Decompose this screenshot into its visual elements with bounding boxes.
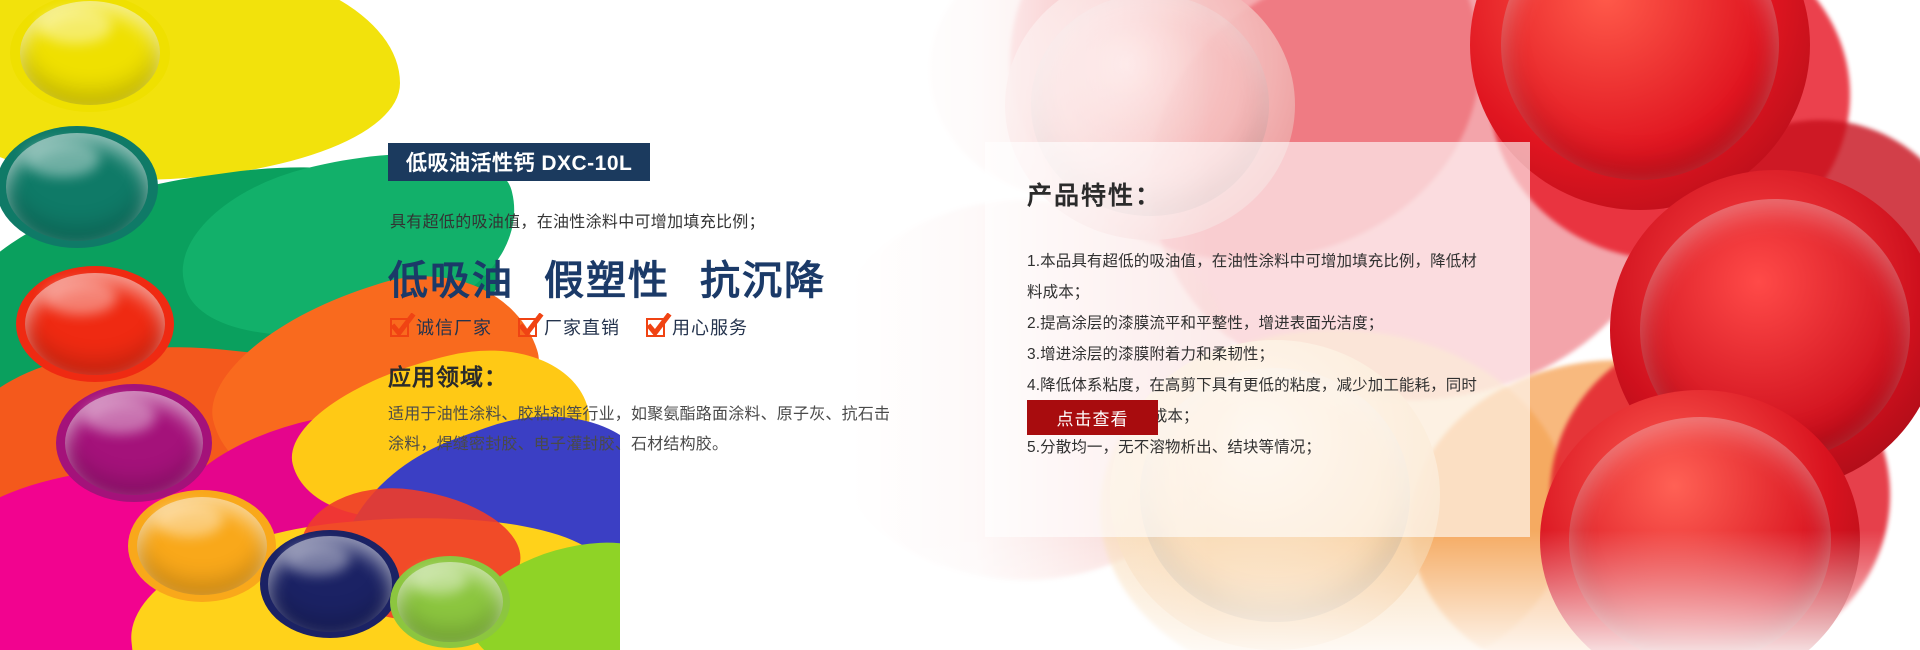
panel-feature-item: 2.提高涂层的漆膜流平和平整性，增进表面光洁度；: [1027, 308, 1492, 339]
product-features-panel: 产品特性： 1.本品具有超低的吸油值，在油性涂料中可增加填充比例，降低材料成本；…: [985, 142, 1530, 537]
artwork-fade-bottom: [850, 530, 1920, 650]
trust-badge-1: 诚信厂家: [390, 314, 492, 340]
trust-badge-label-2: 厂家直销: [544, 314, 620, 340]
product-banner: 低吸油活性钙 DXC-10L 具有超低的吸油值，在油性涂料中可增加填充比例； 低…: [0, 0, 1920, 650]
checkbox-checked-icon: [518, 318, 537, 337]
headline-word-3: 抗沉降: [700, 257, 826, 304]
product-subtitle: 具有超低的吸油值，在油性涂料中可增加填充比例；: [390, 208, 765, 232]
trust-badge-2: 厂家直销: [518, 314, 620, 340]
paint-pot-purple: [56, 384, 212, 502]
panel-feature-item: 1.本品具有超低的吸油值，在油性涂料中可增加填充比例，降低材料成本；: [1027, 246, 1492, 308]
panel-feature-item: 3.增进涂层的漆膜附着力和柔韧性；: [1027, 339, 1492, 370]
trust-badges: 诚信厂家 厂家直销 用心服务: [390, 314, 748, 340]
headline-word-2: 假塑性: [544, 257, 670, 304]
trust-badge-label-3: 用心服务: [672, 314, 748, 340]
checkbox-checked-icon: [646, 318, 665, 337]
paint-pot-red: [16, 266, 174, 382]
application-section-body: 适用于油性涂料、胶粘剂等行业，如聚氨酯路面涂料、原子灰、抗石击涂料，焊缝密封胶、…: [388, 400, 898, 460]
panel-feature-item: 5.分散均一，无不溶物析出、结块等情况；: [1027, 432, 1492, 463]
checkbox-checked-icon: [390, 318, 409, 337]
paint-pot-teal: [0, 126, 158, 248]
trust-badge-label-1: 诚信厂家: [416, 314, 492, 340]
trust-badge-3: 用心服务: [646, 314, 748, 340]
product-headline: 低吸油假塑性抗沉降: [388, 248, 826, 306]
paint-pot-navy: [260, 530, 400, 638]
headline-word-1: 低吸油: [388, 257, 514, 304]
product-info-block: 低吸油活性钙 DXC-10L 具有超低的吸油值，在油性涂料中可增加填充比例； 低…: [388, 0, 948, 650]
view-details-button[interactable]: 点击查看: [1027, 400, 1158, 435]
panel-title: 产品特性：: [1027, 176, 1162, 212]
product-title-badge: 低吸油活性钙 DXC-10L: [388, 143, 650, 181]
paint-pot-gold: [128, 490, 276, 602]
application-section-title: 应用领域：: [388, 358, 508, 392]
